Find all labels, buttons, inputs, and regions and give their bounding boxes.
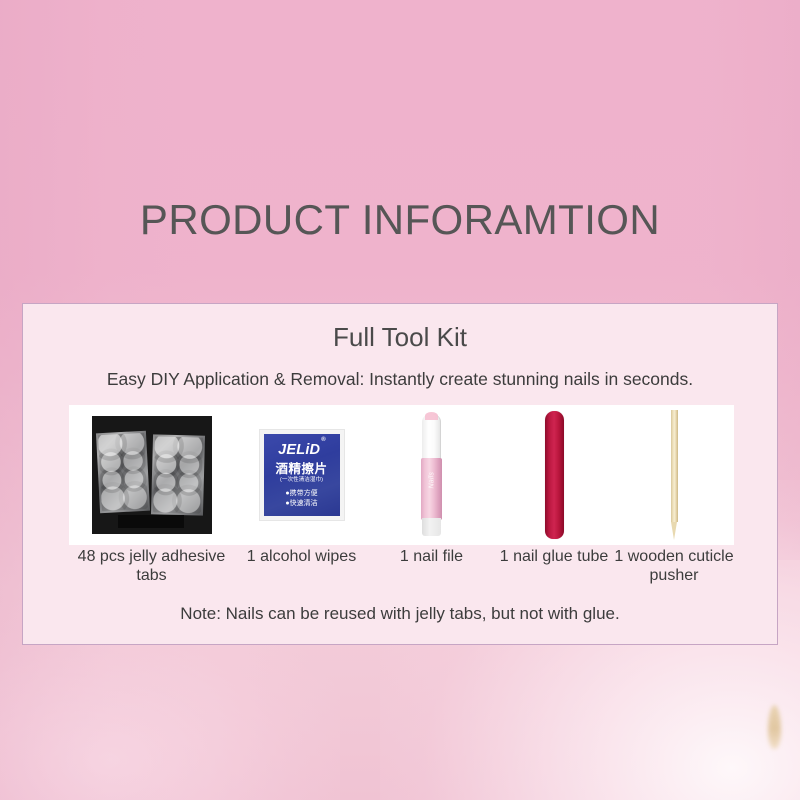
nail-file-photo xyxy=(545,411,564,539)
jelly-tab-dots xyxy=(98,433,148,511)
nail-glue-tube-photo: Nails xyxy=(421,414,442,536)
wipe-feature-item: ●携带方便 xyxy=(285,489,317,500)
glue-tube-cap xyxy=(422,414,441,460)
item-labels-row: 48 pcs jelly adhesive tabs 1 alcohol wip… xyxy=(69,547,734,585)
photo-cell-jelly-adhesive-tabs xyxy=(69,405,234,545)
wipe-brand-logo: JELiD® xyxy=(278,443,325,458)
alcohol-wipe-packet-face: JELiD® 酒精擦片 (一次性清洁湿巾) ●携带方便 ●快速清洁 xyxy=(264,434,340,516)
photo-cell-alcohol-wipes: JELiD® 酒精擦片 (一次性清洁湿巾) ●携带方便 ●快速清洁 xyxy=(234,405,369,545)
card-note: Note: Nails can be reused with jelly tab… xyxy=(23,604,777,624)
item-label-jelly-adhesive-tabs: 48 pcs jelly adhesive tabs xyxy=(69,547,234,585)
item-label-nail-file: 1 nail file xyxy=(369,547,494,585)
wipe-chinese-subtitle: (一次性清洁湿巾) xyxy=(280,478,323,484)
blurred-nail-shape xyxy=(768,705,781,749)
card-subtitle: Easy DIY Application & Removal: Instantl… xyxy=(23,369,777,390)
product-photo-strip: JELiD® 酒精擦片 (一次性清洁湿巾) ●携带方便 ●快速清洁 xyxy=(69,405,734,545)
jelly-tab-sheet-left xyxy=(95,431,149,514)
alcohol-wipe-packet: JELiD® 酒精擦片 (一次性清洁湿巾) ●携带方便 ●快速清洁 xyxy=(259,429,345,521)
glue-tube-script-text: Nails xyxy=(429,471,436,489)
card-title: Full Tool Kit xyxy=(23,322,777,353)
photo-cell-nail-file xyxy=(494,405,614,545)
product-information-page: PRODUCT INFORAMTION Full Tool Kit Easy D… xyxy=(0,0,800,800)
item-label-nail-glue-tube: 1 nail glue tube xyxy=(494,547,614,585)
jelly-tabs-photo xyxy=(92,416,212,534)
photo-cell-wooden-cuticle-pusher xyxy=(614,405,734,545)
item-label-wooden-cuticle-pusher: 1 wooden cuticle pusher xyxy=(614,547,734,585)
wipe-brand-text: JELiD xyxy=(278,442,320,458)
trademark-icon: ® xyxy=(321,437,326,443)
wipe-chinese-title: 酒精擦片 xyxy=(275,463,327,476)
wooden-cuticle-pusher-photo xyxy=(670,410,679,540)
page-title: PRODUCT INFORAMTION xyxy=(0,196,800,244)
wipe-feature-list: ●携带方便 ●快速清洁 xyxy=(285,489,317,511)
full-tool-kit-card: Full Tool Kit Easy DIY Application & Rem… xyxy=(22,303,778,645)
pusher-tip xyxy=(671,522,677,540)
glue-tube-base xyxy=(422,518,441,536)
jelly-tab-dots xyxy=(153,436,203,513)
pusher-shaft xyxy=(671,410,678,522)
wipe-feature-item: ●快速清洁 xyxy=(285,499,317,510)
photo-cell-nail-glue-tube: Nails xyxy=(369,405,494,545)
glue-tube-body: Nails xyxy=(421,458,442,520)
jelly-tab-sheet-right xyxy=(150,434,204,515)
item-label-alcohol-wipes: 1 alcohol wipes xyxy=(234,547,369,585)
photo-shadow-bar xyxy=(118,515,184,528)
